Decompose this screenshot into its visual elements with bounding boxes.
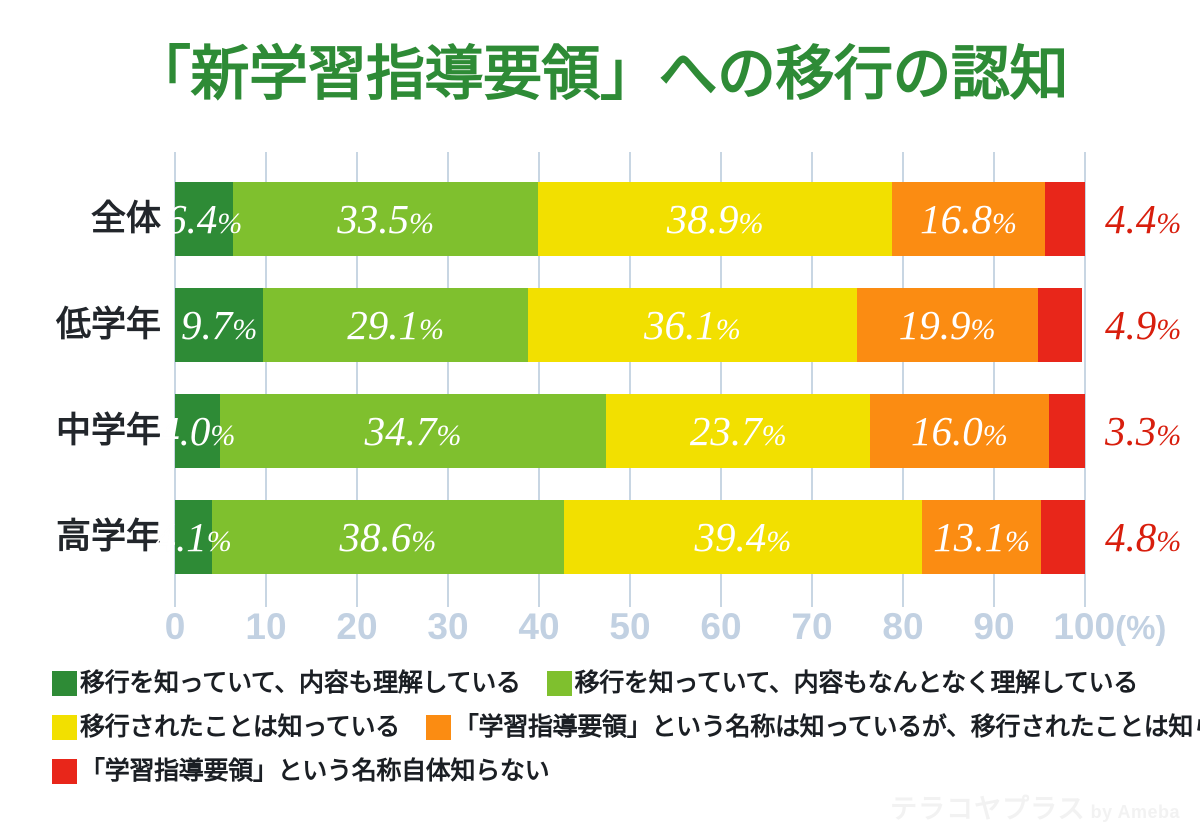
x-axis-tick-label: 70 [791, 607, 832, 648]
bar-segment-value: 34.7% [365, 411, 462, 452]
legend-item[interactable]: 移行を知っていて、内容も理解している [52, 671, 521, 696]
bar-segment[interactable]: 39.4% [564, 500, 923, 574]
bar-segment[interactable]: 38.9% [538, 182, 892, 256]
bar-row: 中学年4.0%34.7%23.7%16.0%3.3% [175, 394, 1085, 468]
bar-segment[interactable]: 36.1% [528, 288, 857, 362]
bar-segment[interactable]: 9.7% [175, 288, 263, 362]
bar-segment[interactable]: 19.9% [857, 288, 1038, 362]
legend-item[interactable]: 「学習指導要領」という名称自体知らない [52, 759, 549, 784]
x-axis-tick-label: 30 [427, 607, 468, 648]
bar-segment[interactable]: 34.7% [220, 394, 607, 468]
legend-row: 「学習指導要領」という名称自体知らない [52, 754, 1162, 788]
bar-row-label: 全体 [91, 182, 161, 256]
bar-row: 全体6.4%33.5%38.9%16.8%4.4% [175, 182, 1085, 256]
bar-segment-value: 19.9% [899, 305, 996, 346]
x-axis-tick-label: 10 [245, 607, 286, 648]
x-axis-tick-label: 0 [165, 607, 186, 648]
legend-row: 移行されたことは知っている「学習指導要領」という名称は知っているが、移行されたこ… [52, 710, 1162, 744]
bar-segment[interactable]: 33.5% [233, 182, 538, 256]
bar-segment-value: 36.1% [644, 305, 741, 346]
page-title: 「新学習指導要領」への移行の認知 [0, 44, 1200, 106]
bar-row-label: 高学年 [56, 500, 161, 574]
bar-outside-value: 4.4% [1105, 182, 1181, 256]
bar-outside-value: 4.8% [1105, 500, 1181, 574]
legend-item[interactable]: 移行されたことは知っている [52, 715, 400, 740]
bar-segment-value: 4.0% [159, 411, 235, 452]
legend-item-label: 移行を知っていて、内容もなんとなく理解している [575, 671, 1138, 696]
bar-row-label: 中学年 [56, 394, 161, 468]
legend-item-label: 移行を知っていて、内容も理解している [80, 671, 521, 696]
plot-area: 全体6.4%33.5%38.9%16.8%4.4%低学年9.7%29.1%36.… [175, 152, 1085, 607]
x-axis-tick-label: 50 [609, 607, 650, 648]
legend-swatch-icon [52, 715, 77, 740]
bar-segment-value: 4.1% [156, 517, 232, 558]
bar-outside-value: 3.3% [1105, 394, 1181, 468]
bar-segment[interactable]: 13.1% [922, 500, 1041, 574]
legend-item-label: 「学習指導要領」という名称は知っているが、移行されたことは知らない [454, 715, 1200, 740]
legend-swatch-icon [426, 715, 451, 740]
bar-segment-value: 38.9% [667, 199, 764, 240]
chart-legend: 移行を知っていて、内容も理解している移行を知っていて、内容もなんとなく理解してい… [52, 666, 1162, 798]
x-axis-tick-label: 80 [882, 607, 923, 648]
watermark: テラコヤプラス by Ameba [890, 787, 1180, 826]
bar-row: 高学年4.1%38.6%39.4%13.1%4.8% [175, 500, 1085, 574]
bar-segment[interactable]: 29.1% [263, 288, 528, 362]
bar-segment[interactable]: 6.4% [175, 182, 233, 256]
bar-segment[interactable] [1038, 288, 1083, 362]
x-axis-tick-label: 60 [700, 607, 741, 648]
x-axis-tick-label: 20 [336, 607, 377, 648]
legend-row: 移行を知っていて、内容も理解している移行を知っていて、内容もなんとなく理解してい… [52, 666, 1162, 700]
legend-item-label: 移行されたことは知っている [80, 715, 400, 740]
bar-segment[interactable]: 23.7% [606, 394, 870, 468]
bar-outside-value: 4.9% [1105, 288, 1181, 362]
bar-segment-value: 29.1% [347, 305, 444, 346]
bar-segment-value: 39.4% [694, 517, 791, 558]
bar-track: 4.0%34.7%23.7%16.0% [175, 394, 1085, 468]
bar-row: 低学年9.7%29.1%36.1%19.9%4.9% [175, 288, 1085, 362]
bar-segment-value: 13.1% [933, 517, 1030, 558]
bar-segment-value: 6.4% [166, 199, 242, 240]
legend-item[interactable]: 移行を知っていて、内容もなんとなく理解している [547, 671, 1138, 696]
legend-swatch-icon [52, 671, 77, 696]
x-axis-tick-label: 40 [518, 607, 559, 648]
bar-segment[interactable]: 38.6% [212, 500, 563, 574]
bar-segment[interactable]: 4.0% [175, 394, 220, 468]
bar-track: 9.7%29.1%36.1%19.9% [175, 288, 1085, 362]
legend-item-label: 「学習指導要領」という名称自体知らない [80, 759, 549, 784]
bar-segment-value: 33.5% [337, 199, 434, 240]
bar-segment[interactable] [1041, 500, 1085, 574]
x-axis-tick-label: 90 [973, 607, 1014, 648]
bar-segment[interactable]: 4.1% [175, 500, 212, 574]
bar-row-label: 低学年 [56, 288, 161, 362]
bar-segment-value: 16.8% [920, 199, 1017, 240]
legend-item[interactable]: 「学習指導要領」という名称は知っているが、移行されたことは知らない [426, 715, 1200, 740]
legend-swatch-icon [52, 759, 77, 784]
bar-segment[interactable] [1049, 394, 1085, 468]
bar-segment-value: 23.7% [690, 411, 787, 452]
bar-track: 4.1%38.6%39.4%13.1% [175, 500, 1085, 574]
bar-track: 6.4%33.5%38.9%16.8% [175, 182, 1085, 256]
bar-segment-value: 16.0% [911, 411, 1008, 452]
bar-segment[interactable]: 16.8% [892, 182, 1045, 256]
bar-segment-value: 9.7% [181, 305, 257, 346]
x-axis: 0102030405060708090100(%) [0, 607, 1200, 655]
legend-swatch-icon [547, 671, 572, 696]
bar-segment[interactable] [1045, 182, 1085, 256]
x-axis-tick-label: 100(%) [1053, 607, 1166, 648]
bar-segment[interactable]: 16.0% [870, 394, 1048, 468]
watermark-sub: by Ameba [1091, 802, 1180, 823]
watermark-brand: テラコヤプラス [890, 787, 1085, 826]
bar-segment-value: 38.6% [340, 517, 437, 558]
